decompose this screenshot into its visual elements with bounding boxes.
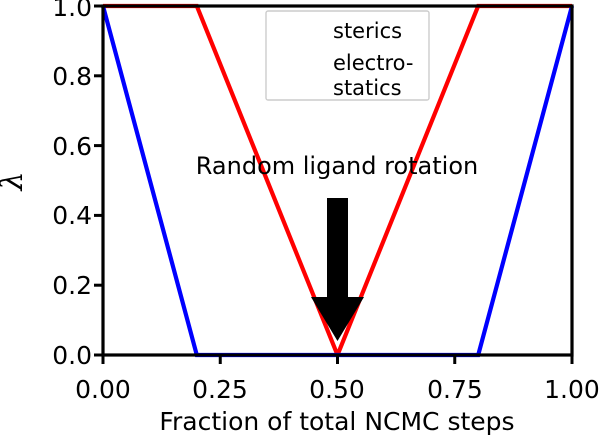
y-axis-title: λ (0, 171, 30, 191)
chart-canvas: 0.00 0.25 0.50 0.75 1.00 0.0 0.2 0.4 0.6… (0, 0, 600, 438)
x-tick-label-1: 0.25 (192, 375, 248, 404)
x-tick-label-4: 1.00 (544, 375, 600, 404)
legend-label-electrostatics-line1: electro- (333, 51, 413, 75)
arrow-shaft (327, 198, 348, 297)
x-tick-label-0: 0.00 (75, 375, 131, 404)
legend-label-electrostatics-line2: statics (333, 76, 402, 100)
x-tick-label-3: 0.75 (427, 375, 483, 404)
figure-container: 0.00 0.25 0.50 0.75 1.00 0.0 0.2 0.4 0.6… (0, 0, 600, 438)
y-tick-label-5: 1.0 (52, 0, 92, 22)
x-axis-title: Fraction of total NCMC steps (159, 407, 514, 436)
y-tick-label-2: 0.4 (52, 201, 92, 230)
y-tick-label-1: 0.2 (52, 271, 92, 300)
y-tick-label-3: 0.6 (52, 132, 92, 161)
legend: sterics electro- statics (266, 11, 429, 100)
annotation-label: Random ligand rotation (196, 152, 478, 180)
y-tick-label-4: 0.8 (52, 62, 92, 91)
legend-label-sterics: sterics (333, 19, 402, 43)
y-tick-label-0: 0.0 (52, 341, 92, 370)
x-tick-label-2: 0.50 (309, 375, 365, 404)
